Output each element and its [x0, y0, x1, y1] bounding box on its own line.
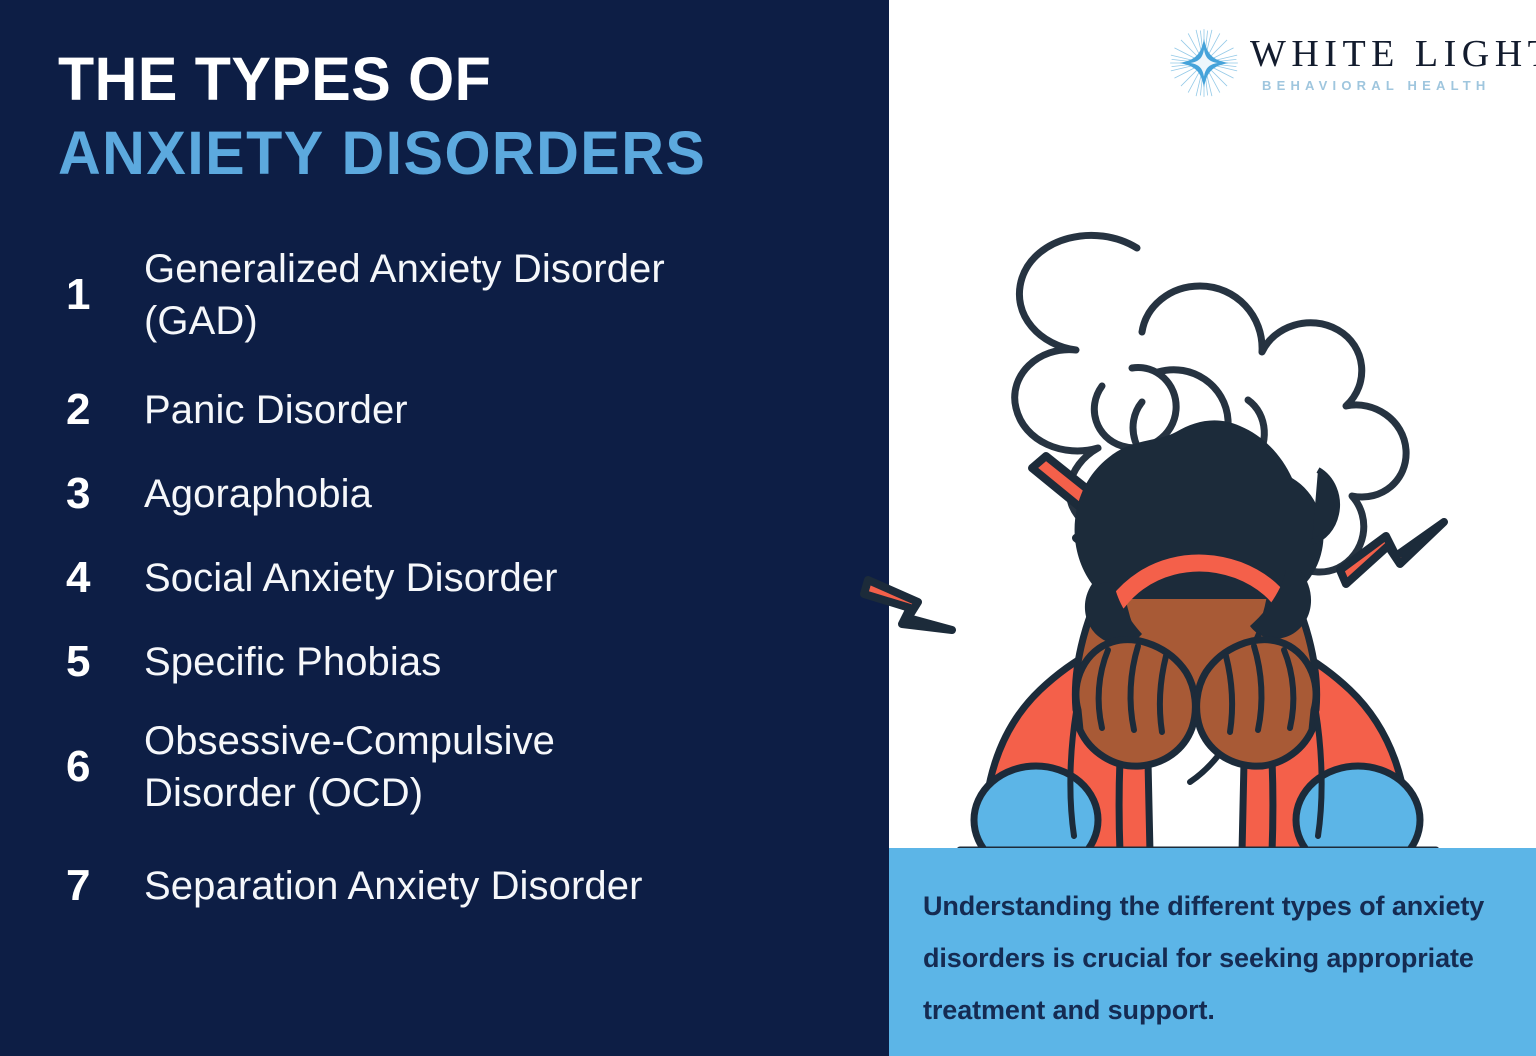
starburst-icon	[1168, 27, 1240, 99]
list-item-label: Separation Anxiety Disorder	[144, 860, 643, 912]
anxiety-disorder-list: 1 Generalized Anxiety Disorder (GAD) 2 P…	[58, 243, 858, 939]
list-item: 4 Social Anxiety Disorder	[58, 547, 858, 609]
list-item-number: 5	[58, 640, 144, 684]
left-navy-panel: THE TYPES OF ANXIETY DISORDERS 1 General…	[0, 0, 889, 1056]
caption-banner: Understanding the different types of anx…	[889, 848, 1536, 1056]
list-item-label: Specific Phobias	[144, 636, 441, 688]
brand-logo: WHITE LIGHT BEHAVIORAL HEALTH	[1168, 22, 1513, 104]
list-item: 6 Obsessive-Compulsive Disorder (OCD)	[58, 715, 858, 819]
list-item-number: 4	[58, 556, 144, 600]
list-item: 1 Generalized Anxiety Disorder (GAD)	[58, 243, 858, 347]
list-item-label: Agoraphobia	[144, 468, 372, 520]
anxiety-illustration	[840, 150, 1536, 870]
title-line-secondary: ANXIETY DISORDERS	[58, 116, 844, 190]
list-item-number: 6	[58, 745, 144, 789]
title-line-primary: THE TYPES OF	[58, 42, 844, 116]
logo-text-block: WHITE LIGHT BEHAVIORAL HEALTH	[1250, 32, 1536, 95]
list-item-number: 2	[58, 388, 144, 432]
list-item-number: 7	[58, 864, 144, 908]
list-item: 7 Separation Anxiety Disorder	[58, 855, 858, 917]
list-item: 5 Specific Phobias	[58, 631, 858, 693]
logo-title: WHITE LIGHT	[1250, 34, 1536, 74]
list-item-label: Generalized Anxiety Disorder (GAD)	[144, 243, 704, 347]
logo-subtitle: BEHAVIORAL HEALTH	[1250, 77, 1536, 95]
list-item: 3 Agoraphobia	[58, 463, 858, 525]
list-item-label: Social Anxiety Disorder	[144, 552, 558, 604]
list-item-label: Panic Disorder	[144, 384, 408, 436]
list-item-label: Obsessive-Compulsive Disorder (OCD)	[144, 715, 704, 819]
list-item-number: 3	[58, 472, 144, 516]
lightning-bolt-icon	[864, 580, 952, 630]
page-title: THE TYPES OF ANXIETY DISORDERS	[58, 42, 868, 190]
caption-text: Understanding the different types of anx…	[923, 880, 1503, 1036]
list-item: 2 Panic Disorder	[58, 379, 858, 441]
list-item-number: 1	[58, 273, 144, 317]
infographic-canvas: THE TYPES OF ANXIETY DISORDERS 1 General…	[0, 0, 1536, 1056]
